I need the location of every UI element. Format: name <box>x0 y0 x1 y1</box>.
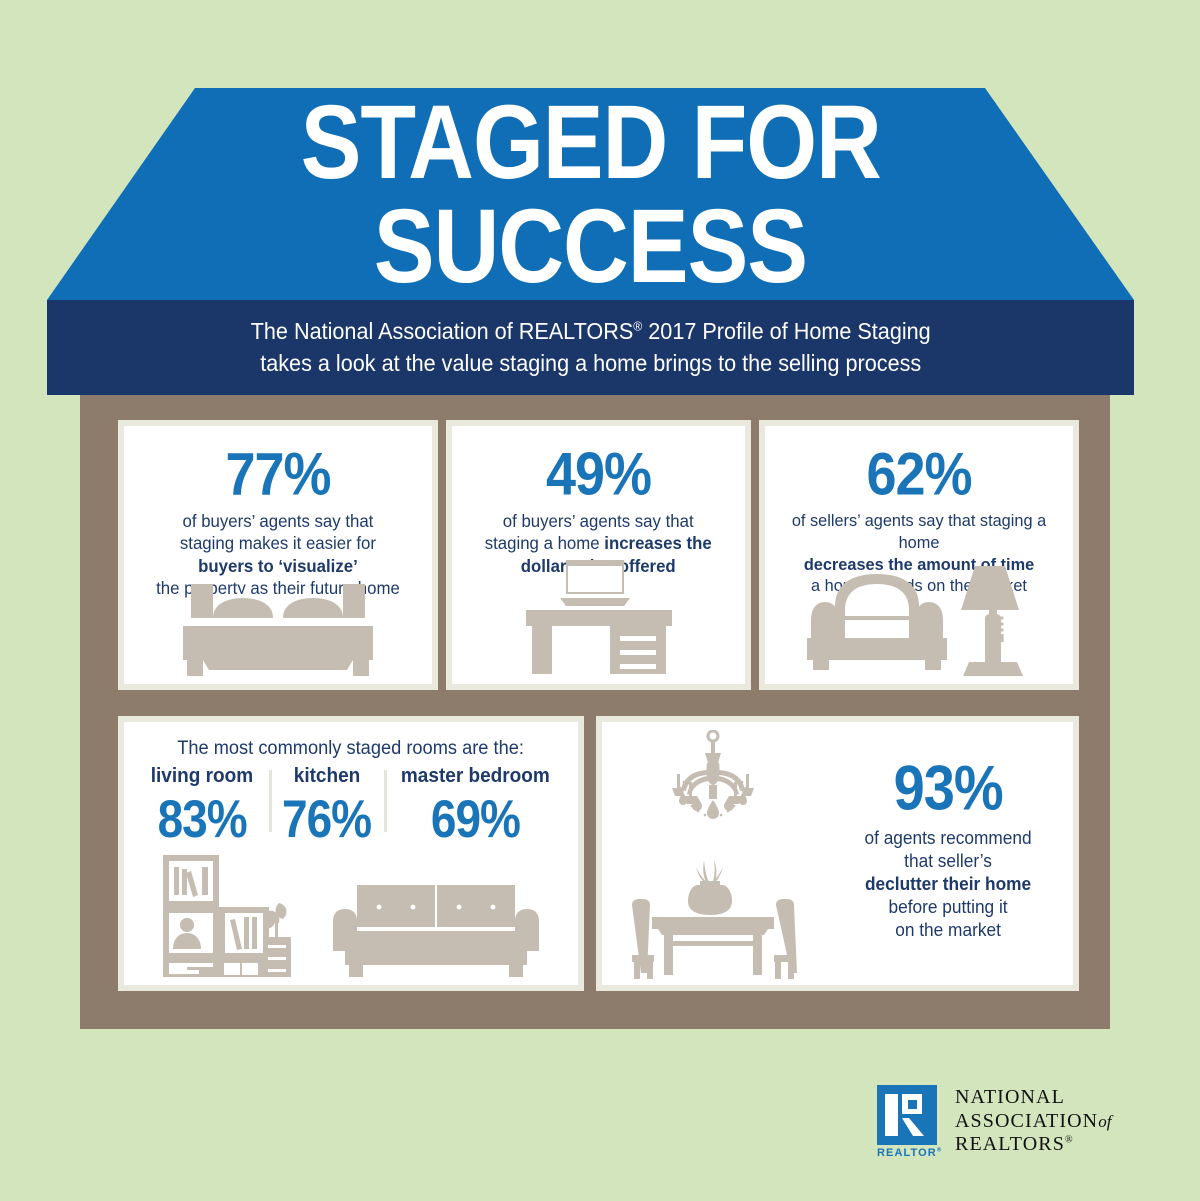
desc-line-1: of buyers’ agents say that <box>503 511 694 531</box>
desc-line-1: of sellers’ agents say that staging a ho… <box>792 511 1046 552</box>
subtitle-text: The National Association of REALTORS® 20… <box>250 316 930 379</box>
wordmark-line-2: ASSOCIATIONof <box>955 1110 1111 1134</box>
wordmark-line-1: NATIONAL <box>955 1086 1111 1110</box>
realtor-word: REALTOR <box>877 1147 937 1159</box>
room-percent: 69% <box>431 792 520 845</box>
desk-icon <box>452 556 745 676</box>
desc-line-3-bold: buyers to ‘visualize’ <box>198 556 358 576</box>
room-stat-living-room: living room 83% <box>135 766 269 838</box>
declutter-icons <box>602 722 823 985</box>
declutter-text: 93% of agents recommend that seller’s de… <box>823 757 1073 950</box>
desc-line-3-bold: declutter their home <box>865 874 1031 894</box>
stat-percent: 49% <box>546 444 651 504</box>
desc-line-2: staging a home <box>485 533 605 553</box>
subtitle-line-1: The National Association of REALTORS® 20… <box>250 316 930 348</box>
declutter-card: 93% of agents recommend that seller’s de… <box>596 716 1079 991</box>
declutter-percent: 93% <box>894 757 1003 820</box>
rooms-icon-row <box>124 851 578 979</box>
armchair-lamp-icon <box>765 564 1073 676</box>
stat-card-buyers-visualize: 77% of buyers’ agents say that staging m… <box>118 420 438 690</box>
room-label: living room <box>151 766 253 786</box>
room-stat-master-bedroom: master bedroom 69% <box>384 766 567 838</box>
desc-line-2-bold: increases the <box>605 533 712 553</box>
rooms-stat-row: living room 83% kitchen 76% master bedro… <box>124 766 578 838</box>
subtitle-line-2: takes a look at the value staging a home… <box>250 348 930 380</box>
desc-line-5: on the market <box>895 920 1001 940</box>
nar-logo: REALTOR® NATIONAL ASSOCIATIONof REALTORS… <box>877 1085 1111 1159</box>
realtor-mark-label: REALTOR® <box>877 1147 945 1159</box>
bed-icon <box>124 584 432 676</box>
realtor-mark: REALTOR® <box>877 1085 945 1159</box>
registered-mark: ® <box>633 318 642 333</box>
staged-rooms-card: The most commonly staged rooms are the: … <box>118 716 584 991</box>
sofa-icon <box>331 883 541 979</box>
title-block: STAGED FOR SUCCESS <box>47 88 1134 300</box>
dining-table-vase-icon <box>628 859 798 979</box>
rooms-heading: The most commonly staged rooms are the: <box>178 738 525 760</box>
wordmark-reg-mark: ® <box>1065 1135 1074 1146</box>
desc-line-1: of agents recommend <box>865 828 1032 848</box>
roof-shape: STAGED FOR SUCCESS <box>47 88 1134 300</box>
room-percent: 83% <box>158 792 247 845</box>
room-stat-kitchen: kitchen 76% <box>269 766 384 838</box>
stat-card-dollar-value: 49% of buyers’ agents say that staging a… <box>446 420 751 690</box>
title-line-2: SUCCESS <box>374 198 807 298</box>
desc-line-1: of buyers’ agents say that <box>183 511 374 531</box>
title-line-1: STAGED FOR <box>300 94 880 194</box>
subtitle-line-1-a: The National Association of REALTORS <box>250 318 633 344</box>
chandelier-icon <box>653 730 773 836</box>
desc-line-4: before putting it <box>889 897 1008 917</box>
subtitle-line-1-b: 2017 Profile of Home Staging <box>642 318 930 344</box>
stat-card-time-on-market: 62% of sellers’ agents say that staging … <box>759 420 1079 690</box>
room-label: kitchen <box>293 766 360 786</box>
declutter-description: of agents recommend that seller’s declut… <box>865 827 1032 942</box>
realtor-r-block-icon <box>877 1085 937 1145</box>
desc-line-2: staging makes it easier for <box>180 533 376 553</box>
room-label: master bedroom <box>401 766 550 786</box>
room-percent: 76% <box>282 792 371 845</box>
bookshelf-plant-icon <box>161 853 293 979</box>
stat-percent: 62% <box>866 444 971 504</box>
wordmark-of: of <box>1098 1112 1111 1131</box>
desc-line-2: that seller’s <box>904 851 992 871</box>
wordmark-line-3: REALTORS® <box>955 1133 1111 1157</box>
realtor-reg-mark: ® <box>937 1147 943 1153</box>
nar-wordmark: NATIONAL ASSOCIATIONof REALTORS® <box>955 1086 1111 1157</box>
subtitle-band: The National Association of REALTORS® 20… <box>47 300 1134 395</box>
wordmark-realtors: REALTORS <box>955 1133 1065 1155</box>
stat-percent: 77% <box>225 444 330 504</box>
infographic-canvas: STAGED FOR SUCCESS The National Associat… <box>0 0 1200 1201</box>
wordmark-association: ASSOCIATION <box>955 1110 1098 1132</box>
